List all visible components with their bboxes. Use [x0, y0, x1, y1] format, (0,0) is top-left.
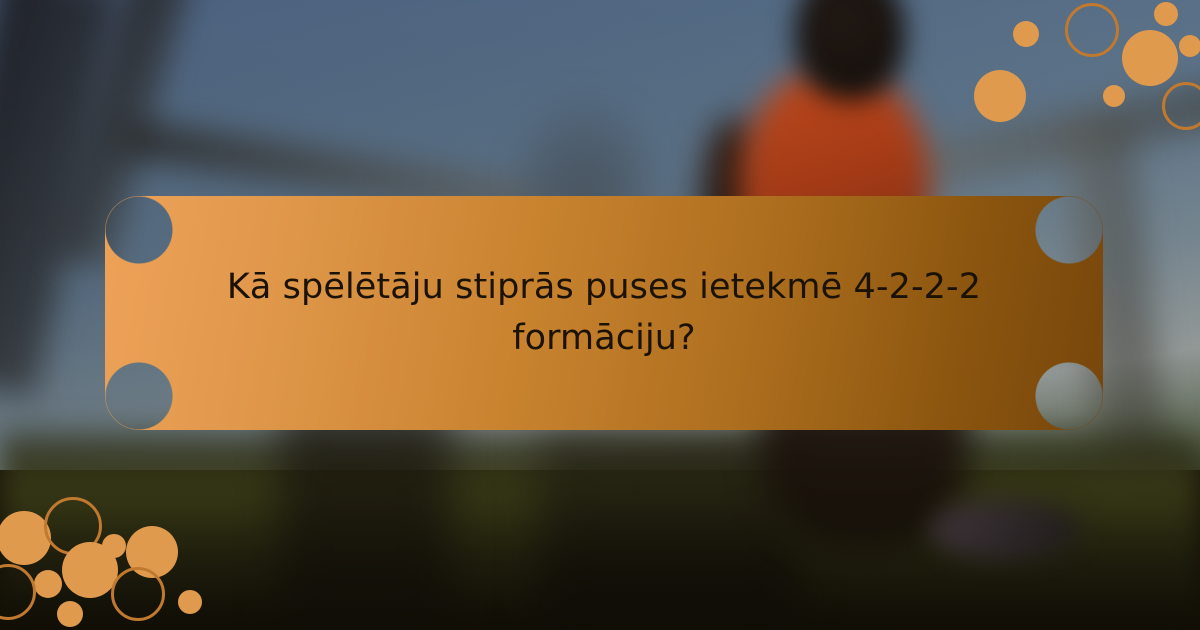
decorative-dot [1179, 35, 1200, 57]
headline-title: Kā spēlētāju stiprās puses ietekmē 4-2-2… [209, 262, 999, 364]
decorative-dot [62, 542, 118, 598]
decorative-dot [111, 567, 165, 621]
decorative-dot [34, 570, 62, 598]
decorative-dot [1013, 21, 1039, 47]
decorative-dots-top-right [990, 0, 1200, 115]
decorative-dot [974, 70, 1026, 122]
decorative-dot [1122, 30, 1178, 86]
decorative-dot [0, 511, 51, 565]
decorative-dots-bottom-left [0, 510, 240, 630]
social-card-canvas: Kā spēlētāju stiprās puses ietekmē 4-2-2… [0, 0, 1200, 630]
decorative-dot [0, 564, 36, 620]
decorative-dot [1103, 85, 1125, 107]
decorative-dot [57, 601, 83, 627]
decorative-dot [178, 590, 202, 614]
decorative-dot [1154, 2, 1178, 26]
decorative-dot [1065, 3, 1119, 57]
headline-card: Kā spēlētāju stiprās puses ietekmē 4-2-2… [105, 196, 1103, 430]
